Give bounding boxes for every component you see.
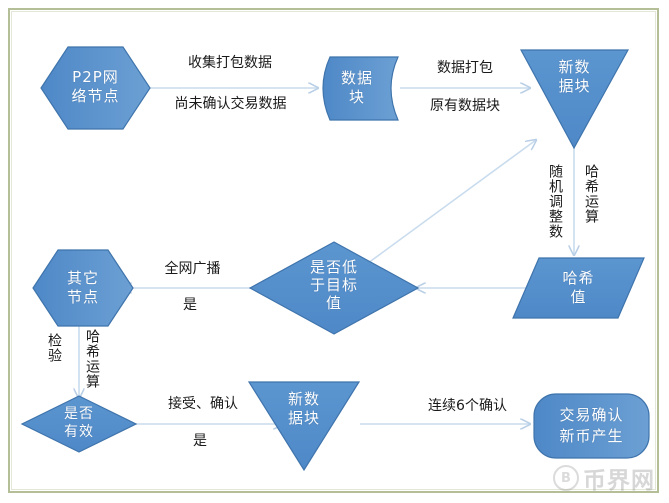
node-isvalid-label: 是否 有效 bbox=[37, 405, 121, 441]
edge-label-unconfirmed-tx-data: 尚未确认交易数据 bbox=[143, 96, 318, 113]
edge-label-yes-broadcast: 是 bbox=[160, 297, 220, 314]
watermark: B 币界网 bbox=[553, 461, 655, 495]
edge-label-collect-package-data: 收集打包数据 bbox=[150, 55, 310, 72]
node-confirmed-label: 交易确认 新币产生 bbox=[534, 405, 649, 447]
node-newblock1-label: 新数 据块 bbox=[521, 58, 628, 96]
edge-label-data-packaging: 数据打包 bbox=[405, 60, 525, 77]
edge-label-verify: 检验 bbox=[48, 333, 62, 363]
edge-label-broadcast-network: 全网广播 bbox=[135, 261, 250, 278]
watermark-text: 币界网 bbox=[583, 461, 655, 495]
edge-label-existing-block: 原有数据块 bbox=[400, 98, 530, 115]
node-datablock-label: 数据 块 bbox=[316, 69, 398, 107]
watermark-coin-icon: B bbox=[553, 465, 579, 491]
edge-label-six-confirmations: 连续6个确认 bbox=[400, 398, 535, 415]
edge-label-random-nonce: 随机调整数 bbox=[549, 164, 563, 239]
node-hashvalue-label: 哈希 值 bbox=[525, 269, 632, 307]
node-belowtarget-label: 是否低 于目标 值 bbox=[280, 258, 388, 312]
edge-label-accept-confirm: 接受、确认 bbox=[138, 396, 268, 413]
edge-label-yes-valid: 是 bbox=[170, 433, 230, 450]
node-p2p-label: P2P网 络节点 bbox=[41, 68, 150, 106]
edge-label-hash-operation-bottom: 哈希运算 bbox=[86, 329, 100, 389]
flowchart-canvas: P2P网 络节点 数据 块 新数 据块 哈希 值 是否低 于目标 值 其它 节点… bbox=[0, 0, 669, 503]
edge-label-hash-operation-top: 哈希运算 bbox=[585, 164, 599, 224]
node-othernodes-label: 其它 节点 bbox=[33, 269, 133, 307]
